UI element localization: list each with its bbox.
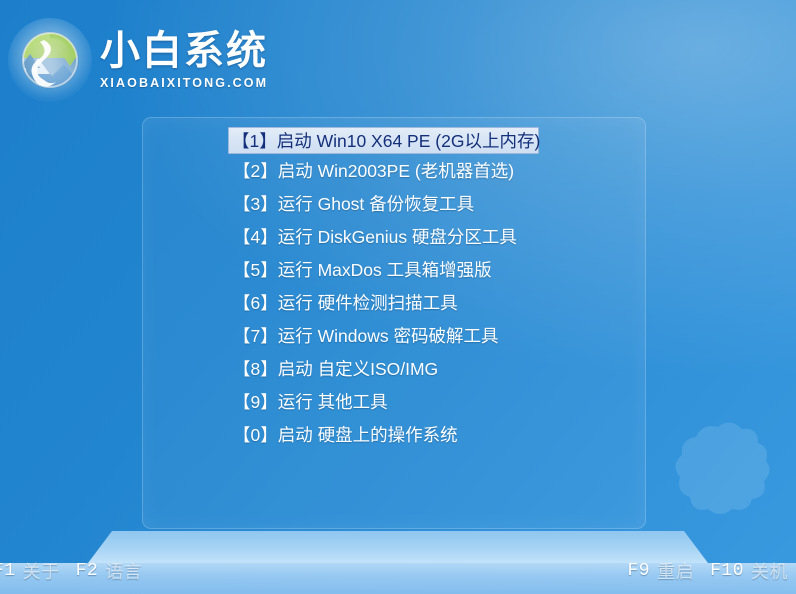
boot-menu-item-7[interactable]: 【7】运行 Windows 密码破解工具 — [229, 319, 541, 352]
brand-subtitle: XIAOBAIXITONG.COM — [100, 76, 268, 90]
pedestal-platform — [0, 527, 796, 563]
boot-menu-item-9[interactable]: 【9】运行 其他工具 — [229, 385, 541, 418]
boot-menu-panel: 【1】启动 Win10 X64 PE (2G以上内存)【2】启动 Win2003… — [142, 117, 646, 529]
cloud-watermark-icon — [652, 415, 782, 543]
boot-menu-item-8[interactable]: 【8】启动 自定义ISO/IMG — [229, 352, 541, 385]
boot-menu-item-6[interactable]: 【6】运行 硬件检测扫描工具 — [229, 286, 541, 319]
brand-title: 小白系统 — [100, 30, 268, 72]
boot-menu-item-5[interactable]: 【5】运行 MaxDos 工具箱增强版 — [229, 253, 541, 286]
boot-menu-item-10[interactable]: 【0】启动 硬盘上的操作系统 — [229, 418, 541, 451]
brand-text: 小白系统 XIAOBAIXITONG.COM — [100, 30, 268, 90]
boot-menu-item-3[interactable]: 【3】运行 Ghost 备份恢复工具 — [229, 187, 541, 220]
boot-menu-item-2[interactable]: 【2】启动 Win2003PE (老机器首选) — [229, 154, 541, 187]
boot-menu-screen: 小白系统 XIAOBAIXITONG.COM 【1】启动 Win10 X64 P… — [0, 0, 796, 594]
boot-menu-item-1[interactable]: 【1】启动 Win10 X64 PE (2G以上内存) — [228, 127, 539, 154]
boot-menu-list[interactable]: 【1】启动 Win10 X64 PE (2G以上内存)【2】启动 Win2003… — [143, 118, 645, 451]
boot-menu-item-4[interactable]: 【4】运行 DiskGenius 硬盘分区工具 — [229, 220, 541, 253]
recycle-circle-icon — [8, 18, 92, 102]
brand-logo: 小白系统 XIAOBAIXITONG.COM — [8, 12, 278, 108]
pedestal-face — [0, 563, 796, 594]
logo-glow — [8, 18, 92, 102]
